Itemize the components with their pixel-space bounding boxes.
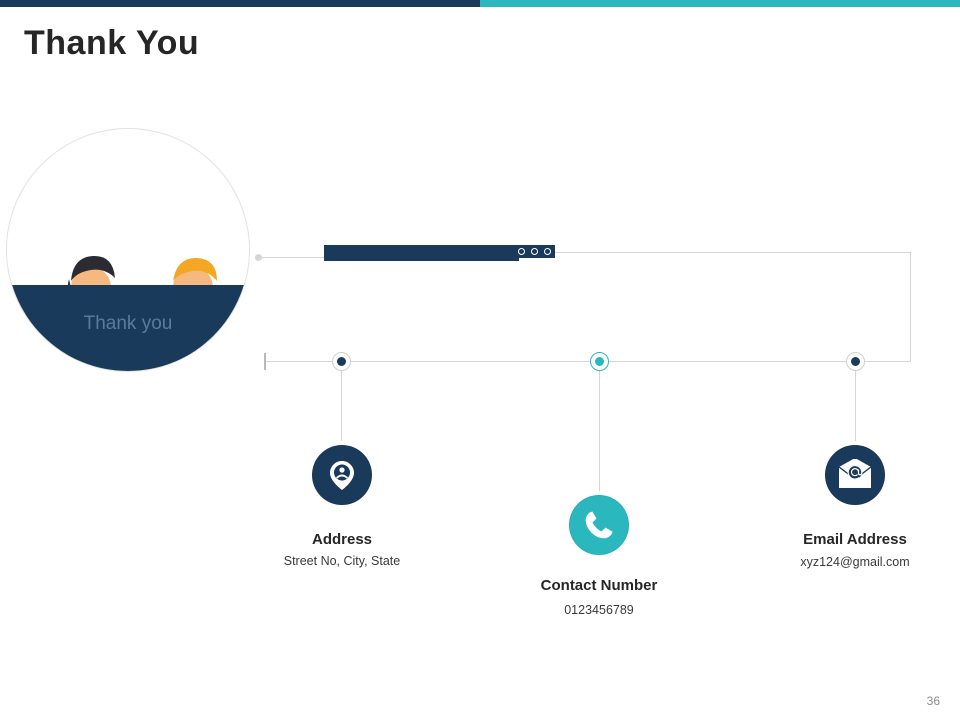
drop-line-address — [341, 371, 342, 445]
illustration-caption: Thank you — [7, 313, 249, 335]
bar-dot-3 — [544, 248, 551, 255]
contact-value-email: xyz124@gmail.com — [755, 555, 955, 569]
handshake-illustration: Thank you — [6, 128, 250, 372]
location-pin-glyph — [325, 458, 359, 492]
rail-left-cap — [264, 353, 266, 370]
bar-dot-2 — [531, 248, 538, 255]
phone-icon — [569, 495, 629, 555]
location-pin-icon — [312, 445, 372, 505]
contact-value-contact-number: 0123456789 — [499, 603, 699, 617]
connector-line — [258, 257, 326, 258]
phone-glyph — [581, 507, 617, 543]
page-title: Thank You — [24, 24, 199, 63]
rail-top-horizontal — [555, 252, 911, 253]
top-accent-bar-left — [0, 0, 480, 7]
email-envelope-icon — [825, 445, 885, 505]
contact-value-address: Street No, City, State — [242, 554, 442, 568]
slide-canvas: Thank You Thank you — [0, 0, 960, 720]
email-glyph — [837, 459, 873, 491]
decorative-navy-bar — [324, 245, 555, 258]
node-inner-dot — [337, 357, 346, 366]
drop-line-email — [855, 371, 856, 445]
timeline-node-address — [332, 352, 351, 371]
contact-label-address: Address — [242, 531, 442, 548]
timeline-node-contact — [590, 352, 609, 371]
page-number: 36 — [927, 694, 940, 708]
contact-label-contact-number: Contact Number — [499, 577, 699, 594]
node-inner-dot — [851, 357, 860, 366]
top-accent-bar-right — [480, 0, 960, 7]
contact-label-email: Email Address — [755, 531, 955, 548]
timeline-node-email — [846, 352, 865, 371]
drop-line-contact — [599, 371, 600, 495]
bar-dot-1 — [518, 248, 525, 255]
decorative-navy-bar-underline — [324, 258, 519, 261]
node-inner-dot — [595, 357, 604, 366]
rail-horizontal — [265, 361, 911, 362]
rail-right-vertical — [910, 252, 911, 362]
